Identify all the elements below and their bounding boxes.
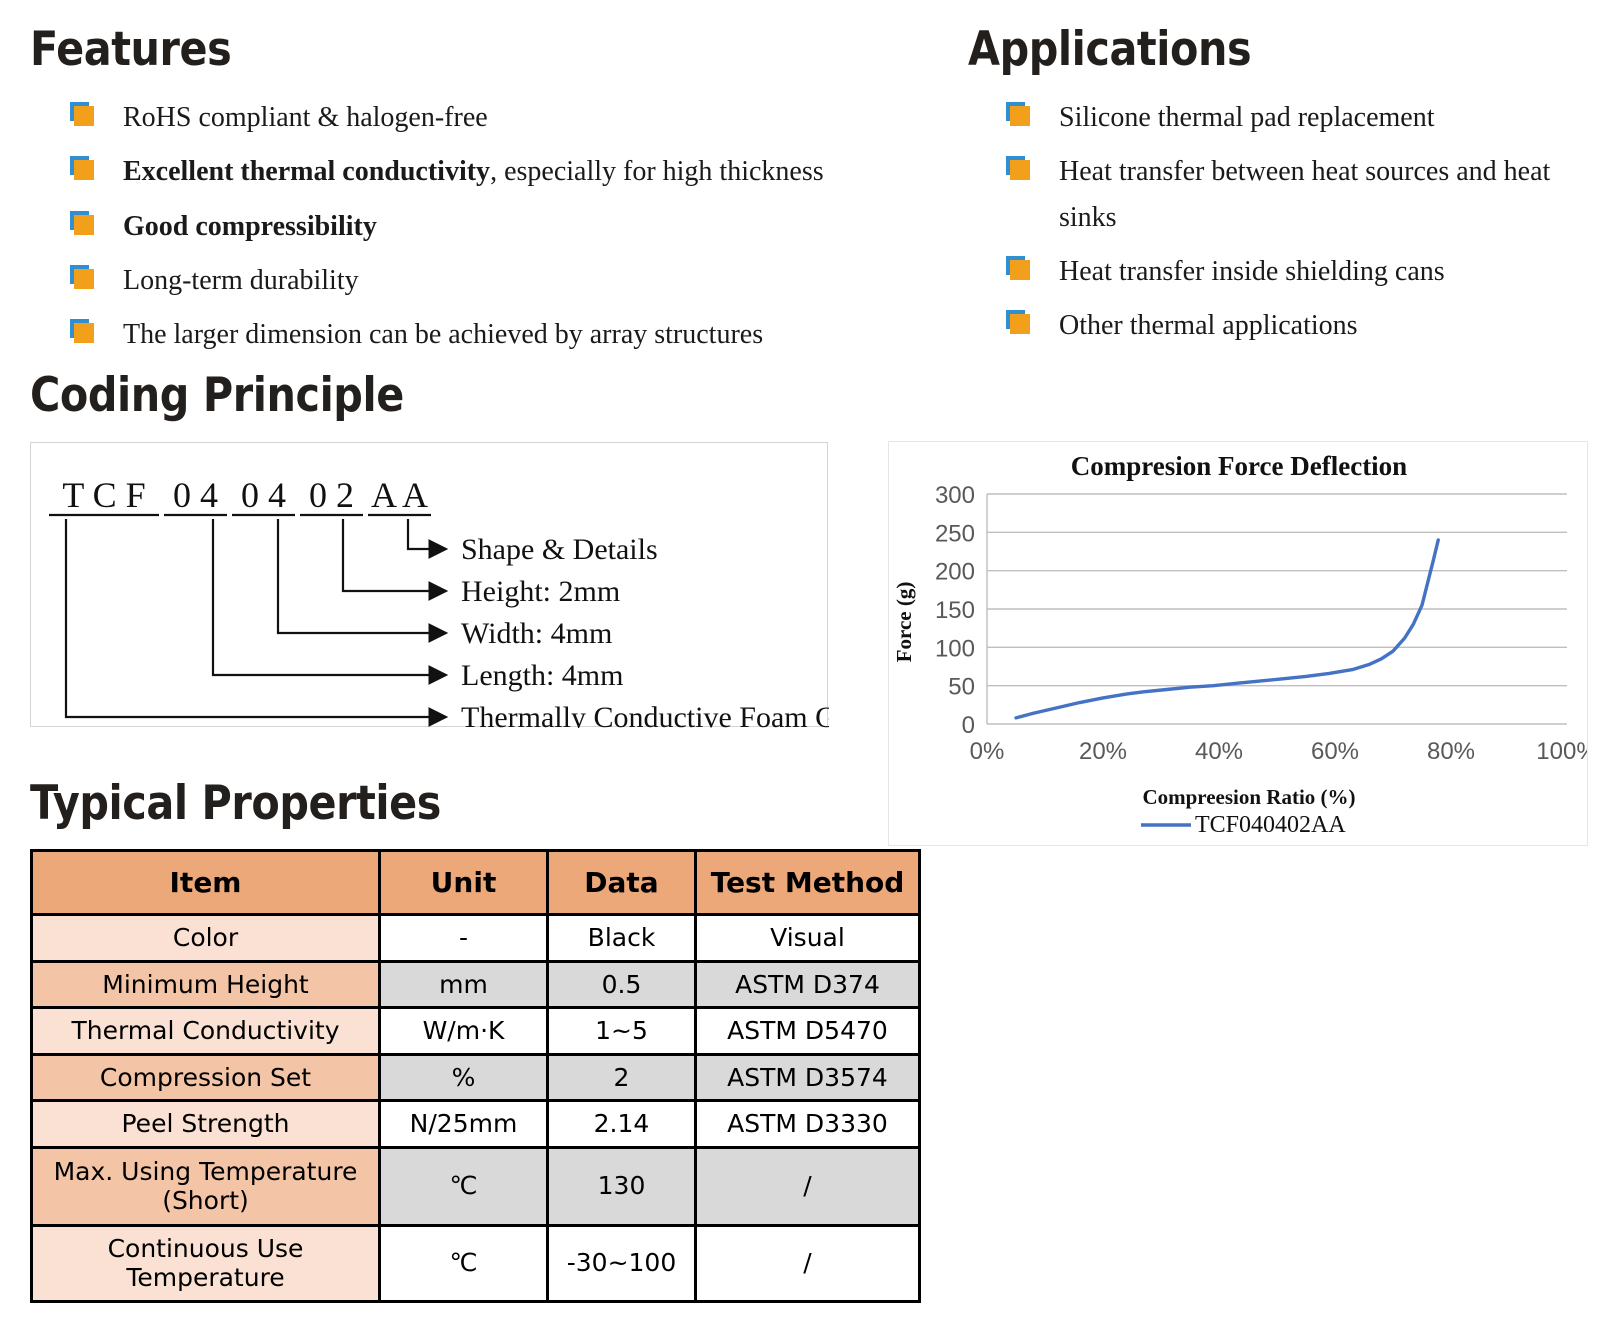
table-row: Thermal ConductivityW/m·K1~5ASTM D5470 <box>32 1008 920 1055</box>
feature-item-label: RoHS compliant & halogen-free <box>96 95 488 140</box>
chart-x-tick-label: 80% <box>1427 738 1475 765</box>
bullet-square-icon <box>1006 102 1032 128</box>
cell-test-method: ASTM D374 <box>696 961 920 1008</box>
table-row: Compression Set%2ASTM D3574 <box>32 1054 920 1101</box>
chart-y-tick-label: 50 <box>948 674 975 701</box>
table-header-item: Item <box>32 851 380 915</box>
bullet-square-icon <box>70 319 96 345</box>
cell-data: 130 <box>548 1147 696 1225</box>
applications-section: Applications Silicone thermal pad replac… <box>968 26 1568 358</box>
cell-unit: W/m·K <box>380 1008 548 1055</box>
applications-list: Silicone thermal pad replacementHeat tra… <box>1006 95 1568 349</box>
typical-properties-section: Typical Properties ItemUnitDataTest Meth… <box>30 780 930 1303</box>
chart-y-tick-label: 150 <box>935 597 975 624</box>
cell-item: Peel Strength <box>32 1101 380 1148</box>
chart-y-tick-label: 300 <box>935 482 975 509</box>
leader-line-3 <box>278 519 446 633</box>
table-row: Peel StrengthN/25mm2.14ASTM D3330 <box>32 1101 920 1148</box>
chart-y-tick-label: 0 <box>962 712 975 739</box>
table-row: Color-BlackVisual <box>32 915 920 962</box>
cell-test-method: / <box>696 1147 920 1225</box>
cell-unit: ℃ <box>380 1225 548 1301</box>
chart-x-tick-label: 0% <box>970 738 1005 765</box>
bullet-square-icon <box>70 211 96 237</box>
coding-principle-diagram: T C F0 40 40 2A A Shape & DetailsHeight:… <box>30 442 828 727</box>
coding-principle-heading: Coding Principle <box>30 372 769 419</box>
chart-legend: TCF040402AA <box>1141 812 1346 838</box>
leader-labels: Shape & DetailsHeight: 2mmWidth: 4mmLeng… <box>461 533 829 728</box>
feature-item-label: Good compressibility <box>96 204 377 249</box>
feature-item-label: The larger dimension can be achieved by … <box>96 312 763 357</box>
table-header-data: Data <box>548 851 696 915</box>
cell-data: 2 <box>548 1054 696 1101</box>
chart-series-line <box>1016 540 1438 718</box>
application-item: Heat transfer between heat sources and h… <box>1006 149 1568 240</box>
cell-data: -30~100 <box>548 1225 696 1301</box>
cell-unit: ℃ <box>380 1147 548 1225</box>
cell-item: Minimum Height <box>32 961 380 1008</box>
chart-x-tick-label: 100% <box>1536 738 1588 765</box>
code-group-3: 0 4 <box>241 475 286 515</box>
cell-unit: % <box>380 1054 548 1101</box>
bullet-square-icon <box>1006 310 1032 336</box>
properties-table-wrapper: ItemUnitDataTest Method Color-BlackVisua… <box>30 849 930 1303</box>
application-item-label: Heat transfer between heat sources and h… <box>1032 149 1568 240</box>
leader-line-5 <box>66 519 446 717</box>
cell-item: Continuous Use Temperature <box>32 1225 380 1301</box>
leader-line-4 <box>213 519 446 675</box>
table-body: Color-BlackVisualMinimum Heightmm0.5ASTM… <box>32 915 920 1302</box>
chart-x-tick-label: 20% <box>1079 738 1127 765</box>
cell-test-method: ASTM D3330 <box>696 1101 920 1148</box>
features-list: RoHS compliant & halogen-freeExcellent t… <box>70 95 940 358</box>
properties-table: ItemUnitDataTest Method Color-BlackVisua… <box>30 849 921 1303</box>
chart-y-tick-label: 200 <box>935 559 975 586</box>
feature-item: The larger dimension can be achieved by … <box>70 312 940 357</box>
coding-diagram-svg: T C F0 40 40 2A A Shape & DetailsHeight:… <box>31 443 829 728</box>
compression-force-deflection-chart: Compresion Force Deflection Force (g) Co… <box>888 441 1588 846</box>
leader-label-4: Length: 4mm <box>461 659 623 692</box>
cell-data: 0.5 <box>548 961 696 1008</box>
leader-label-5: Thermally Conductive Foam Gasket <box>461 701 829 728</box>
cell-item: Max. Using Temperature (Short) <box>32 1147 380 1225</box>
applications-heading: Applications <box>968 26 1496 73</box>
chart-y-axis-label: Force (g) <box>892 582 916 663</box>
feature-item: RoHS compliant & halogen-free <box>70 95 940 140</box>
code-group-2: 0 4 <box>173 475 218 515</box>
bullet-square-icon <box>70 265 96 291</box>
table-header-test-method: Test Method <box>696 851 920 915</box>
application-item-label: Silicone thermal pad replacement <box>1032 95 1435 140</box>
chart-title: Compresion Force Deflection <box>1071 451 1407 481</box>
coding-principle-section: Coding Principle T C F0 40 40 2A A Shape… <box>30 372 870 727</box>
table-row: Max. Using Temperature (Short)℃130/ <box>32 1147 920 1225</box>
chart-series-lines <box>1016 540 1438 718</box>
application-item: Silicone thermal pad replacement <box>1006 95 1568 140</box>
legend-label: TCF040402AA <box>1195 812 1346 838</box>
leader-label-1: Shape & Details <box>461 533 658 566</box>
chart-svg: Compresion Force Deflection Force (g) Co… <box>889 442 1588 846</box>
chart-x-tick-label: 60% <box>1311 738 1359 765</box>
chart-gridlines <box>987 494 1567 724</box>
cell-test-method: ASTM D5470 <box>696 1008 920 1055</box>
chart-x-axis-label: Compreesion Ratio (%) <box>1142 785 1355 809</box>
cell-item: Compression Set <box>32 1054 380 1101</box>
feature-item-label: Long-term durability <box>96 258 359 303</box>
leader-lines <box>66 519 446 717</box>
cell-item: Color <box>32 915 380 962</box>
table-header-unit: Unit <box>380 851 548 915</box>
cell-data: Black <box>548 915 696 962</box>
feature-item-label: Excellent thermal conductivity, especial… <box>96 149 824 194</box>
typical-properties-heading: Typical Properties <box>30 780 822 827</box>
leader-label-2: Height: 2mm <box>461 575 620 608</box>
code-group-4: 0 2 <box>309 475 354 515</box>
chart-y-tick-label: 100 <box>935 635 975 662</box>
features-section: Features RoHS compliant & halogen-freeEx… <box>30 26 940 367</box>
cell-item: Thermal Conductivity <box>32 1008 380 1055</box>
application-item-label: Heat transfer inside shielding cans <box>1032 249 1445 294</box>
code-group-1: T C F <box>62 475 145 515</box>
cell-data: 1~5 <box>548 1008 696 1055</box>
leader-line-2 <box>343 519 446 591</box>
cell-unit: mm <box>380 961 548 1008</box>
table-header-row: ItemUnitDataTest Method <box>32 851 920 915</box>
cell-data: 2.14 <box>548 1101 696 1148</box>
cell-unit: - <box>380 915 548 962</box>
feature-item: Good compressibility <box>70 204 940 249</box>
bullet-square-icon <box>70 102 96 128</box>
part-number-text: T C F0 40 40 2A A <box>62 475 428 515</box>
chart-y-tick-label: 250 <box>935 520 975 547</box>
feature-item: Long-term durability <box>70 258 940 303</box>
cell-test-method: / <box>696 1225 920 1301</box>
bullet-square-icon <box>70 156 96 182</box>
chart-x-tick-labels: 0%20%40%60%80%100% <box>970 738 1588 765</box>
chart-y-tick-labels: 050100150200250300 <box>935 482 975 739</box>
bullet-square-icon <box>1006 256 1032 282</box>
feature-item: Excellent thermal conductivity, especial… <box>70 149 940 194</box>
chart-x-tick-label: 40% <box>1195 738 1243 765</box>
cell-test-method: Visual <box>696 915 920 962</box>
table-row: Continuous Use Temperature℃-30~100/ <box>32 1225 920 1301</box>
application-item: Heat transfer inside shielding cans <box>1006 249 1568 294</box>
features-heading: Features <box>30 26 831 73</box>
cell-test-method: ASTM D3574 <box>696 1054 920 1101</box>
application-item-label: Other thermal applications <box>1032 303 1358 348</box>
cell-unit: N/25mm <box>380 1101 548 1148</box>
application-item: Other thermal applications <box>1006 303 1568 348</box>
bullet-square-icon <box>1006 156 1032 182</box>
code-group-5: A A <box>371 475 428 515</box>
leader-line-1 <box>408 519 446 549</box>
leader-label-3: Width: 4mm <box>461 617 612 650</box>
table-row: Minimum Heightmm0.5ASTM D374 <box>32 961 920 1008</box>
